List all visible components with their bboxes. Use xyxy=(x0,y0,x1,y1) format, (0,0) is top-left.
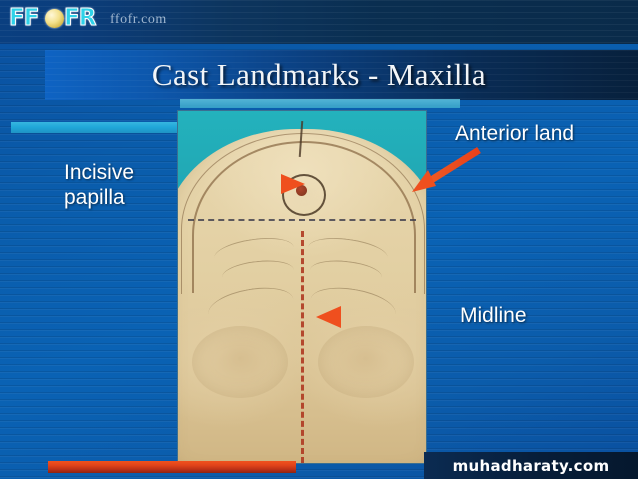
annotation-midline: Midline xyxy=(460,303,527,328)
slide-canvas: FF FR ffofr.com Cast Landmarks - Maxilla xyxy=(0,0,638,479)
annotation-incisive-papilla: Incisive papilla xyxy=(64,160,134,210)
annotation-anterior-land: Anterior land xyxy=(455,121,574,146)
arrow-left-midline xyxy=(316,306,450,328)
arrow-diagonal-anterior-land xyxy=(412,150,479,192)
footer-accent-bar xyxy=(48,461,296,473)
arrow-right-incisive-papilla xyxy=(160,174,305,194)
arrow-overlay xyxy=(0,0,638,479)
watermark-text: muhadharaty.com xyxy=(424,452,638,479)
